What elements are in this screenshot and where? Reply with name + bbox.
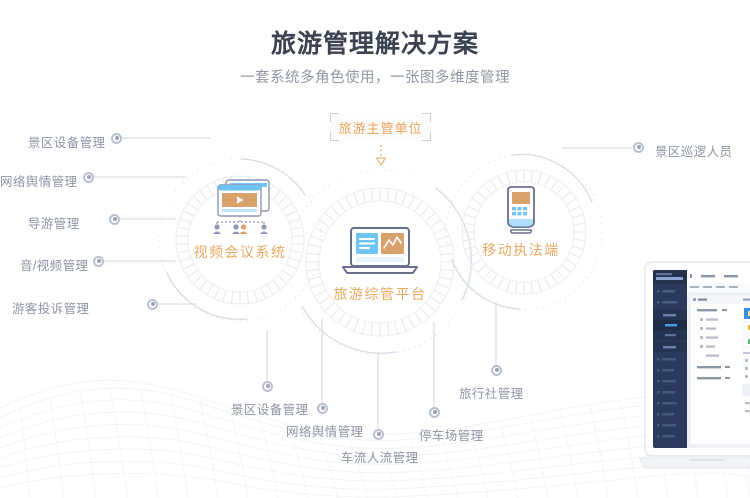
bottom-label-2[interactable]: 车流人流管理 — [341, 447, 418, 466]
hub-label-video-conference: 视频会议系统 — [170, 242, 310, 262]
background-mesh-decoration — [0, 348, 750, 498]
authority-label: 旅游主管单位 — [330, 113, 431, 141]
laptop-mockup-screenshot — [639, 256, 750, 476]
authority-box[interactable]: 旅游主管单位 — [330, 113, 431, 141]
bottom-label-1[interactable]: 网络舆情管理 — [286, 421, 363, 440]
left-node-dot-4[interactable] — [147, 299, 158, 310]
left-node-dot-0[interactable] — [111, 133, 122, 144]
right-label-0[interactable]: 景区巡逻人员 — [655, 141, 732, 160]
down-arrow-icon — [373, 145, 389, 167]
hub-label-tourism-platform: 旅游综管平台 — [310, 284, 450, 304]
left-node-dot-1[interactable] — [83, 172, 94, 183]
bottom-node-dot-1[interactable] — [317, 403, 328, 414]
laptop-icon — [339, 226, 421, 278]
bottom-node-dot-0[interactable] — [262, 381, 273, 392]
left-node-dot-2[interactable] — [109, 214, 120, 225]
handheld-device-icon — [500, 186, 542, 238]
page-title: 旅游管理解决方案 — [0, 24, 750, 60]
bottom-label-4[interactable]: 旅行社管理 — [459, 383, 524, 402]
bottom-node-dot-3[interactable] — [429, 407, 440, 418]
bottom-label-3[interactable]: 停车场管理 — [419, 425, 484, 444]
left-label-4[interactable]: 游客投诉管理 — [12, 298, 89, 317]
bottom-label-0[interactable]: 景区设备管理 — [231, 399, 308, 418]
right-node-dot-0[interactable] — [633, 142, 644, 153]
left-node-dot-3[interactable] — [93, 256, 104, 267]
left-label-3[interactable]: 音/视频管理 — [20, 255, 88, 274]
left-label-1[interactable]: 网络舆情管理 — [0, 171, 77, 190]
left-label-2[interactable]: 导游管理 — [28, 213, 80, 232]
video-conference-icon — [204, 176, 282, 236]
left-label-0[interactable]: 景区设备管理 — [28, 132, 105, 151]
solution-diagram-page: 视频会议系统 旅游综管平台 移动执法端 旅游主管单位 景区设备管理网络舆情管理导… — [0, 0, 750, 498]
page-subtitle: 一套系统多角色使用，一张图多维度管理 — [0, 66, 750, 87]
hub-label-mobile-enforcement: 移动执法端 — [451, 240, 591, 260]
bottom-node-dot-4[interactable] — [491, 365, 502, 376]
bottom-node-dot-2[interactable] — [373, 429, 384, 440]
